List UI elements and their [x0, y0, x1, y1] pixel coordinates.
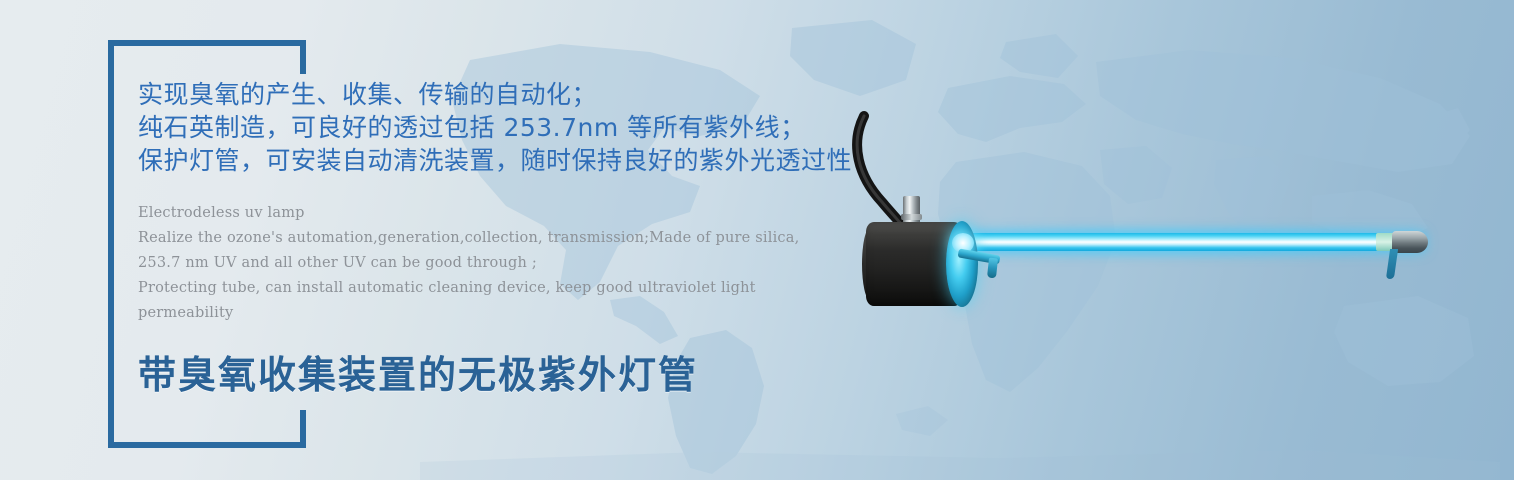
product-name-label: electrodeless-uv-lamp — [0, 0, 1, 1]
ozone-outlet-nozzle-tip — [987, 258, 998, 279]
lamp-housing — [866, 222, 962, 306]
uv-quartz-tube — [912, 233, 1424, 251]
banner-text-block: 实现臭氧的产生、收集、传输的自动化； 纯石英制造，可良好的透过包括 253.7n… — [138, 78, 838, 398]
english-line-2: Realize the ozone's automation,generatio… — [138, 226, 828, 276]
product-banner: 实现臭氧的产生、收集、传输的自动化； 纯石英制造，可良好的透过包括 253.7n… — [0, 0, 1514, 480]
housing-rear-edge — [862, 228, 878, 300]
chinese-feature-list: 实现臭氧的产生、收集、传输的自动化； 纯石英制造，可良好的透过包括 253.7n… — [138, 78, 838, 177]
ozone-outlet-nozzle — [958, 248, 1001, 264]
cable-connector-ring — [901, 214, 922, 220]
frame-left-edge — [108, 40, 114, 448]
frame-bottom-right-stub — [300, 410, 306, 448]
uv-tube-end-hook — [1386, 249, 1398, 279]
chinese-feature-line-2: 纯石英制造，可良好的透过包括 253.7nm 等所有紫外线； — [138, 111, 838, 144]
frame-bottom-edge — [108, 442, 306, 448]
cable-connector — [903, 196, 920, 226]
english-description: Electrodeless uv lamp Realize the ozone'… — [138, 201, 828, 326]
chinese-feature-line-1: 实现臭氧的产生、收集、传输的自动化； — [138, 78, 838, 111]
frame-top-edge — [108, 40, 306, 46]
chinese-feature-line-3: 保护灯管，可安装自动清洗装置，随时保持良好的紫外光透过性 — [138, 144, 838, 177]
frame-top-right-stub — [300, 40, 306, 74]
english-line-1: Electrodeless uv lamp — [138, 201, 828, 226]
housing-lamp-port — [952, 233, 974, 253]
uv-tube-end-tint — [1376, 233, 1398, 251]
uv-tube-end-cap — [1392, 231, 1428, 253]
housing-front-face — [946, 221, 978, 307]
english-line-3: Protecting tube, can install automatic c… — [138, 276, 828, 326]
product-headline: 带臭氧收集装置的无极紫外灯管 — [138, 352, 838, 398]
power-cable-icon — [820, 110, 980, 240]
uv-tube-glow — [905, 222, 1427, 262]
